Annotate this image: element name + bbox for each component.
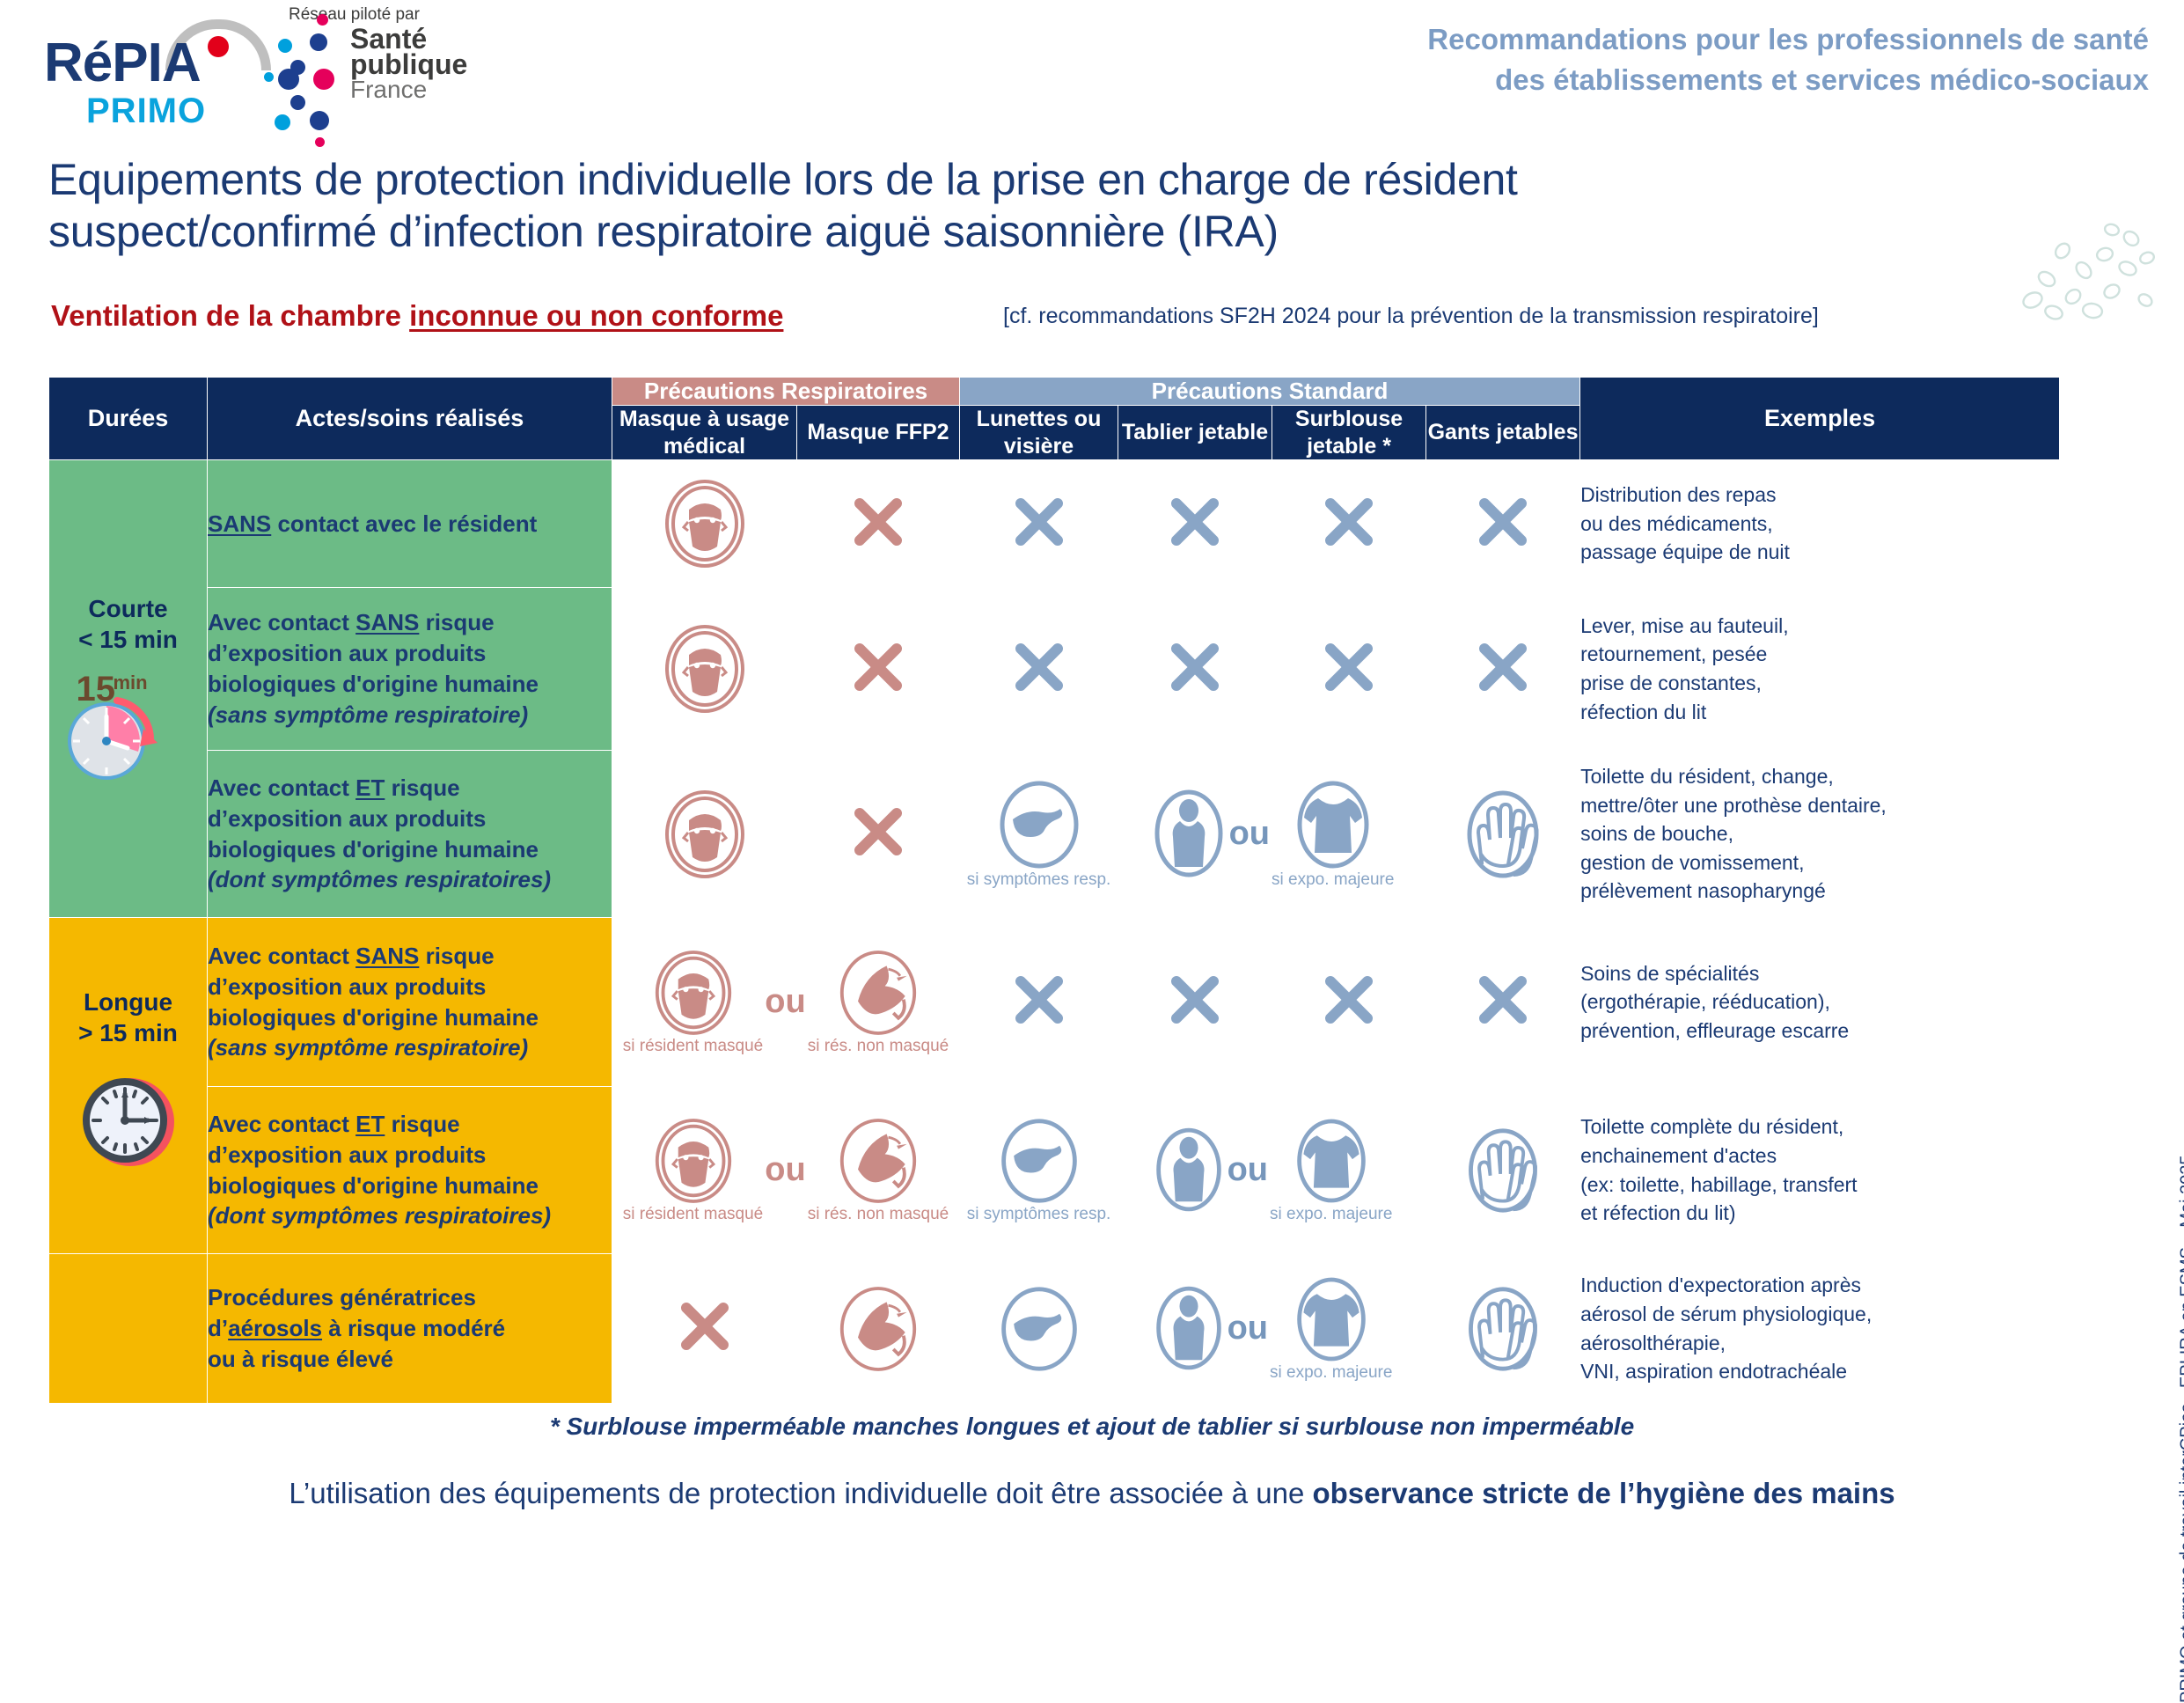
sante-publique-france-logo: Réseau piloté par Santé publique France (264, 4, 466, 140)
acte-underlined-word: SANS (355, 943, 419, 969)
cross-icon (851, 804, 905, 859)
exemples-cell: Induction d'expectoration après aérosol … (1580, 1254, 2060, 1404)
masque-medical-cell (612, 1254, 797, 1404)
lunettes-cell: si symptômes resp. (960, 1087, 1118, 1254)
cross-icon (1012, 640, 1066, 694)
gants-cell (1426, 460, 1580, 588)
masked-person-icon (663, 478, 747, 569)
cross-icon (851, 495, 905, 549)
gloves-icon (1462, 1285, 1543, 1373)
sublabel-si-expo-majeure: si expo. majeure (1270, 1206, 1392, 1224)
acte-italic-note: (dont symptômes respiratoires) (208, 1202, 551, 1229)
ou-connector: ou (1228, 1310, 1268, 1347)
acte-text-prefix: Avec contact (208, 943, 355, 969)
acte-line-2: d’exposition aux produits (208, 805, 486, 832)
tablier-cell (1118, 460, 1272, 588)
duration-value-courte: < 15 min (49, 624, 207, 655)
sublabel-si-res-non-masque: si rés. non masqué (808, 1206, 949, 1224)
col-header-lunettes: Lunettes ou visière (960, 406, 1118, 460)
clock-alarm-icon (67, 1064, 190, 1185)
tablier-ou-surblouse-cell: ou si expo. majeure (1118, 1087, 1426, 1254)
acte-text-prefix: Avec contact (208, 774, 355, 801)
acte-text-suffix: risque (385, 774, 459, 801)
tablier-cell (1118, 588, 1272, 751)
acte-underlined-word: SANS (208, 510, 271, 537)
masque-ffp2-cell (797, 460, 960, 588)
ou-connector: ou (765, 1151, 805, 1189)
acte-underlined-word: SANS (355, 609, 419, 635)
surblouse-footnote: * Surblouse imperméable manches longues … (0, 1413, 2184, 1441)
cross-icon (1168, 495, 1222, 549)
acte-cell: Avec contact ET risque d’exposition aux … (208, 751, 612, 918)
masked-person-icon (663, 623, 747, 715)
acte-line-3: biologiques d'origine humaine (208, 1172, 539, 1199)
goggles-icon (995, 779, 1083, 870)
acte-cell: Avec contact ET risque d’exposition aux … (208, 1087, 612, 1254)
acte-line-3: biologiques d'origine humaine (208, 671, 539, 697)
cross-icon (1476, 973, 1530, 1027)
page-title: Equipements de protection individuelle l… (48, 154, 2055, 258)
col-header-masque-ffp2: Masque FFP2 (797, 406, 960, 460)
table-group-header-row: Durées Actes/soins réalisés Précautions … (49, 378, 2060, 406)
acte-cell: Avec contact SANS risque d’exposition au… (208, 588, 612, 751)
gants-cell (1426, 588, 1580, 751)
masque-medical-cell (612, 588, 797, 751)
ffp2-mask-icon (838, 1285, 919, 1373)
gants-cell (1426, 1087, 1580, 1254)
sublabel-si-resident-masque: si résident masqué (623, 1206, 763, 1224)
hygiene-statement-bold: observance stricte de l’hygiène des main… (1312, 1477, 1895, 1509)
cross-icon (1322, 973, 1376, 1027)
group-header-precautions-standard: Précautions Standard (960, 378, 1580, 406)
cross-icon (1168, 640, 1222, 694)
goggles-icon (995, 1117, 1083, 1205)
exemples-cell: Distribution des repas ou des médicament… (1580, 460, 2060, 588)
ffp2-mask-icon (838, 1117, 919, 1205)
col-header-durees: Durées (49, 378, 208, 460)
exemples-cell: Lever, mise au fauteuil, retournement, p… (1580, 588, 2060, 751)
acte-line-2: d’exposition aux produits (208, 640, 486, 666)
repia-red-dot-icon (208, 36, 229, 57)
spf-network-icon (264, 30, 352, 127)
masque-medical-ou-ffp2-cell: si résident masqué ou si rés. non masqué (612, 1087, 960, 1254)
surblouse-cell (1272, 588, 1426, 751)
table-row: Courte < 15 min 15 min (49, 460, 2060, 588)
clock-15min-icon: 15 min (62, 665, 194, 784)
masque-medical-cell (612, 751, 797, 918)
ou-connector: ou (765, 983, 805, 1021)
duration-cell-courte: Courte < 15 min 15 min (49, 460, 208, 918)
spf-line-france: France (350, 78, 467, 101)
table-row: Procédures génératrices d’aérosols à ris… (49, 1254, 2060, 1404)
lunettes-cell (960, 460, 1118, 588)
acte-cell: SANS contact avec le résident (208, 460, 612, 588)
gloves-icon (1462, 1127, 1543, 1215)
sublabel-si-symptomes-resp: si symptômes resp. (960, 1206, 1118, 1224)
cross-icon (851, 640, 905, 694)
acte-italic-note: (dont symptômes respiratoires) (208, 866, 551, 892)
subtitle-row: Ventilation de la chambre inconnue ou no… (48, 299, 2107, 343)
acte-line-2: d’exposition aux produits (208, 1141, 486, 1168)
lunettes-cell: si symptômes resp. (960, 751, 1118, 918)
lunettes-cell (960, 1254, 1118, 1404)
page-header: RéPIA PRIMO Réseau piloté par Santé publ… (0, 0, 2184, 154)
col-header-exemples: Exemples (1580, 378, 2060, 460)
table-row: Avec contact ET risque d’exposition aux … (49, 1087, 2060, 1254)
acte-cell: Procédures génératrices d’aérosols à ris… (208, 1254, 612, 1404)
masque-ffp2-cell (797, 751, 960, 918)
duration-label-courte: Courte (49, 593, 207, 624)
cross-icon (1168, 973, 1222, 1027)
recommendations-line-2: des établissements et services médico-so… (1427, 60, 2149, 100)
gown-icon (1292, 1275, 1371, 1363)
acte-underlined-word: ET (355, 1111, 385, 1137)
cross-icon (1476, 495, 1530, 549)
masque-ffp2-cell (797, 588, 960, 751)
acte-underlined-word: aérosols (228, 1315, 322, 1341)
ventilation-underlined: inconnue ou non conforme (409, 299, 783, 332)
masque-medical-ou-ffp2-cell: si résident masqué ou si rés. non masqué (612, 918, 960, 1087)
group-header-precautions-respiratoires: Précautions Respiratoires (612, 378, 960, 406)
exemples-cell: Soins de spécialités (ergothérapie, rééd… (1580, 918, 2060, 1087)
acte-text-prefix: Avec contact (208, 1111, 355, 1137)
bacteria-decoration-icon (2008, 216, 2158, 334)
gants-cell (1426, 1254, 1580, 1404)
acte-underlined-word: ET (355, 774, 385, 801)
cross-icon (1012, 973, 1066, 1027)
duration-label-longue: Longue (49, 987, 207, 1017)
exemples-cell: Toilette du résident, change, mettre/ôte… (1580, 751, 2060, 918)
gown-icon (1292, 1117, 1371, 1205)
ou-connector: ou (1229, 815, 1270, 853)
duration-cell-longue: Longue > 15 min (49, 918, 208, 1254)
masked-person-icon (653, 1117, 734, 1205)
recommendations-banner: Recommandations pour les professionnels … (1427, 19, 2149, 99)
repia-wordmark: RéPIA (44, 32, 201, 94)
acte-text-suffix: risque (419, 943, 494, 969)
duration-value-longue: > 15 min (49, 1017, 207, 1048)
acte-text-suffix: risque (419, 609, 494, 635)
acte-cell: Avec contact SANS risque d’exposition au… (208, 918, 612, 1087)
col-header-gants: Gants jetables (1426, 406, 1580, 460)
masque-medical-cell (612, 460, 797, 588)
exemples-cell: Toilette complète du résident, enchainem… (1580, 1087, 2060, 1254)
acte-text-suffix: risque (385, 1111, 459, 1137)
tablier-ou-surblouse-cell: ou si expo. majeure (1118, 1254, 1426, 1404)
sublabel-si-expo-majeure: si expo. majeure (1272, 871, 1394, 890)
recommendations-line-1: Recommandations pour les professionnels … (1427, 19, 2149, 60)
lunettes-cell (960, 918, 1118, 1087)
page-title-line-2: suspect/confirmé d’infection respiratoir… (48, 206, 2055, 258)
col-header-tablier: Tablier jetable (1118, 406, 1272, 460)
sf2h-reference: [cf. recommandations SF2H 2024 pour la p… (1003, 304, 1819, 329)
acte-line-2: d’exposition aux produits (208, 973, 486, 1000)
spf-wordmark: Santé publique France (350, 26, 467, 101)
apron-icon (1152, 1126, 1226, 1214)
masked-person-icon (653, 949, 734, 1037)
gloves-icon (1462, 789, 1543, 880)
acte-line-3: biologiques d'origine humaine (208, 1004, 539, 1031)
col-header-surblouse: Surblouse jetable * (1272, 406, 1426, 460)
lunettes-cell (960, 588, 1118, 751)
cross-icon (1322, 495, 1376, 549)
acte-text-prefix: Avec contact (208, 609, 355, 635)
acte-italic-note: (sans symptôme respiratoire) (208, 701, 528, 728)
table-row: Avec contact SANS risque d’exposition au… (49, 588, 2060, 751)
ffp2-mask-icon (838, 949, 919, 1037)
table-row: Longue > 15 min (49, 918, 2060, 1087)
acte-italic-note: (sans symptôme respiratoire) (208, 1034, 528, 1061)
col-header-masque-medical: Masque à usage médical (612, 406, 797, 460)
hygiene-statement: L’utilisation des équipements de protect… (0, 1477, 2184, 1510)
sublabel-si-expo-majeure: si expo. majeure (1270, 1364, 1392, 1383)
duration-cell-empty (49, 1254, 208, 1404)
sublabel-si-res-non-masque: si rés. non masqué (808, 1038, 949, 1056)
surblouse-cell (1272, 460, 1426, 588)
sublabel-si-symptomes-resp: si symptômes resp. (960, 871, 1118, 890)
cross-icon (1012, 495, 1066, 549)
table-row: Avec contact ET risque d’exposition aux … (49, 751, 2060, 918)
cross-icon (678, 1299, 732, 1354)
col-header-actes: Actes/soins réalisés (208, 378, 612, 460)
goggles-icon (995, 1285, 1083, 1373)
epi-recommendations-table: Durées Actes/soins réalisés Précautions … (48, 377, 2060, 1404)
gown-icon (1292, 779, 1374, 870)
apron-icon (1150, 788, 1228, 879)
spf-line-publique: publique (350, 52, 467, 77)
acte-line-3: biologiques d'origine humaine (208, 836, 539, 863)
tablier-cell (1118, 918, 1272, 1087)
page-title-line-1: Equipements de protection individuelle l… (48, 154, 2055, 206)
hygiene-statement-normal: L’utilisation des équipements de protect… (289, 1477, 1312, 1509)
ou-connector: ou (1228, 1151, 1268, 1189)
surblouse-cell (1272, 918, 1426, 1087)
apron-icon (1152, 1284, 1226, 1372)
gants-cell (1426, 751, 1580, 918)
cross-icon (1476, 640, 1530, 694)
cross-icon (1322, 640, 1376, 694)
reseau-pilote-par-label: Réseau piloté par (289, 5, 420, 25)
sublabel-si-resident-masque: si résident masqué (623, 1038, 763, 1056)
acte-text: contact avec le résident (271, 510, 537, 537)
masque-ffp2-cell (797, 1254, 960, 1404)
tablier-cell: ou si expo. majeure (1118, 751, 1426, 918)
ventilation-statement: Ventilation de la chambre inconnue ou no… (51, 299, 783, 333)
masked-person-icon (663, 789, 747, 880)
gants-cell (1426, 918, 1580, 1087)
ventilation-prefix: Ventilation de la chambre (51, 299, 409, 332)
primo-wordmark: PRIMO (86, 92, 206, 131)
